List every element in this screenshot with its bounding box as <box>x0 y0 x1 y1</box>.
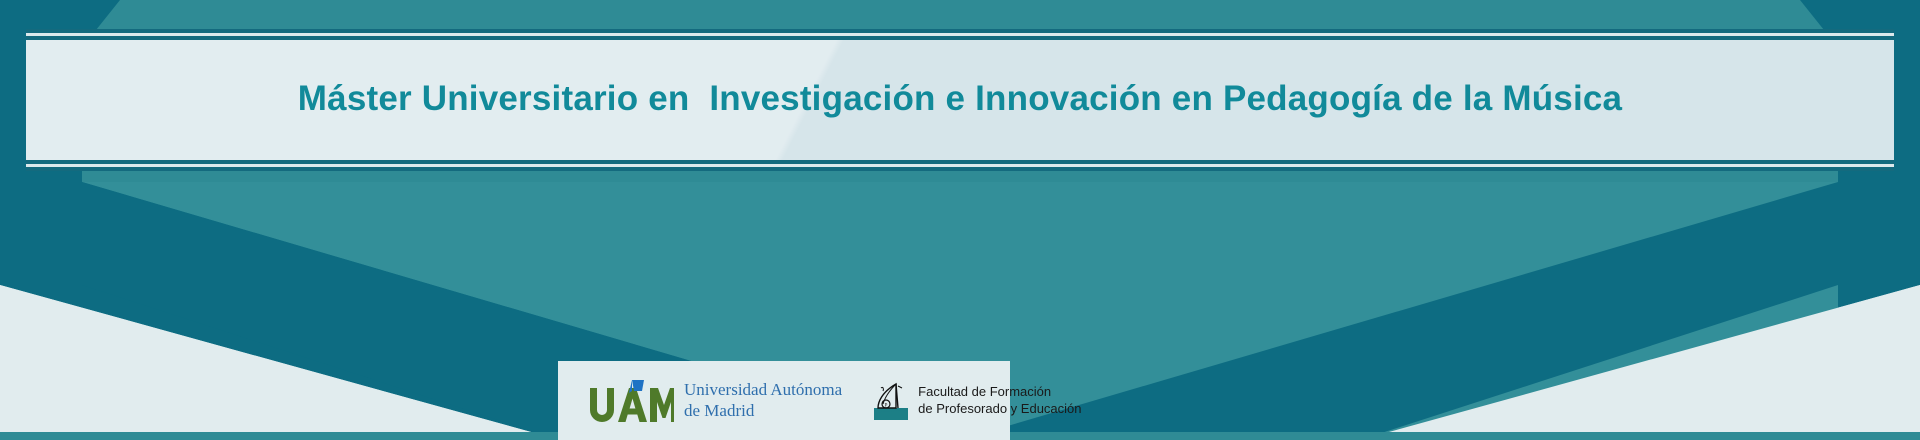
title-box: Máster Universitario en Investigación e … <box>26 40 1894 160</box>
title-rule-bottom-outer <box>26 167 1894 171</box>
faculty-logo: P Facultad de Formación de Profesorado y… <box>872 380 1081 422</box>
sailboat-icon: P <box>872 380 910 422</box>
uam-logo: Universidad Autónoma de Madrid <box>588 378 842 424</box>
uam-wordmark: Universidad Autónoma de Madrid <box>684 380 842 420</box>
title-panel: Máster Universitario en Investigación e … <box>26 29 1894 171</box>
uam-wordmark-line2: de Madrid <box>684 401 842 421</box>
faculty-wordmark: Facultad de Formación de Profesorado y E… <box>918 384 1081 417</box>
title-slide: Máster Universitario en Investigación e … <box>0 0 1920 440</box>
uam-wordmark-line1: Universidad Autónoma <box>684 380 842 400</box>
page-title: Máster Universitario en Investigación e … <box>26 80 1894 119</box>
panel-under-strip <box>82 178 1838 182</box>
faculty-wordmark-line2: de Profesorado y Educación <box>918 401 1081 417</box>
faculty-wordmark-line1: Facultad de Formación <box>918 384 1081 400</box>
logo-panel: Universidad Autónoma de Madrid P <box>558 361 1010 440</box>
svg-text:P: P <box>885 403 888 408</box>
uam-monogram-icon <box>588 378 674 424</box>
top-strip <box>0 0 1920 30</box>
